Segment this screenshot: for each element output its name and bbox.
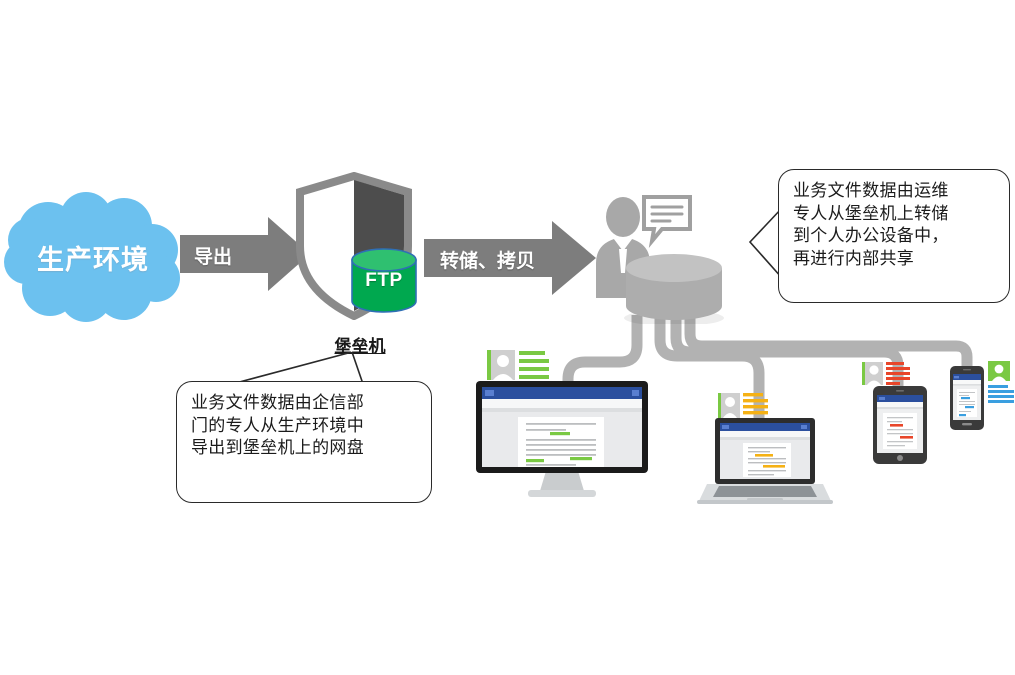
- callout-left-line-2: 门的专人从生产环境中: [191, 415, 418, 438]
- callout-right-line-4: 再进行内部共享: [793, 248, 996, 271]
- desktop-computer: [474, 379, 650, 502]
- diagram-canvas: 生产环境 导出 FTP 堡垒机 转储、拷贝: [0, 0, 1015, 675]
- connection-pipes: [0, 0, 1015, 675]
- production-environment-cloud: 生产环境: [4, 192, 182, 322]
- callout-left-line-3: 导出到堡垒机上的网盘: [191, 437, 418, 460]
- smartphone-device: [949, 365, 985, 431]
- cloud-label: 生产环境: [4, 238, 182, 277]
- callout-left-line-1: 业务文件数据由企信部: [191, 392, 418, 415]
- callout-right-line-2: 专人从堡垒机上转储: [793, 203, 996, 226]
- ftp-label: FTP: [350, 270, 418, 292]
- tablet-device: [872, 385, 928, 465]
- transfer-copy-arrow: 转储、拷贝: [424, 221, 596, 295]
- laptop-computer: [697, 417, 833, 506]
- export-arrow-label: 导出: [194, 242, 232, 269]
- transfer-copy-arrow-label: 转储、拷贝: [440, 246, 535, 273]
- callout-left-bubble: 业务文件数据由企信部 门的专人从生产环境中 导出到堡垒机上的网盘: [176, 381, 432, 503]
- callout-right-line-1: 业务文件数据由运维: [793, 180, 996, 203]
- ftp-storage-cylinder: FTP: [350, 248, 418, 313]
- callout-right-line-3: 到个人办公设备中，: [793, 225, 996, 248]
- callout-right-bubble: 业务文件数据由运维 专人从堡垒机上转储 到个人办公设备中， 再进行内部共享: [778, 169, 1010, 303]
- user-profile-card-blue: [988, 361, 1015, 409]
- user-profile-card-red: [862, 360, 912, 388]
- shared-data-store: [620, 252, 728, 324]
